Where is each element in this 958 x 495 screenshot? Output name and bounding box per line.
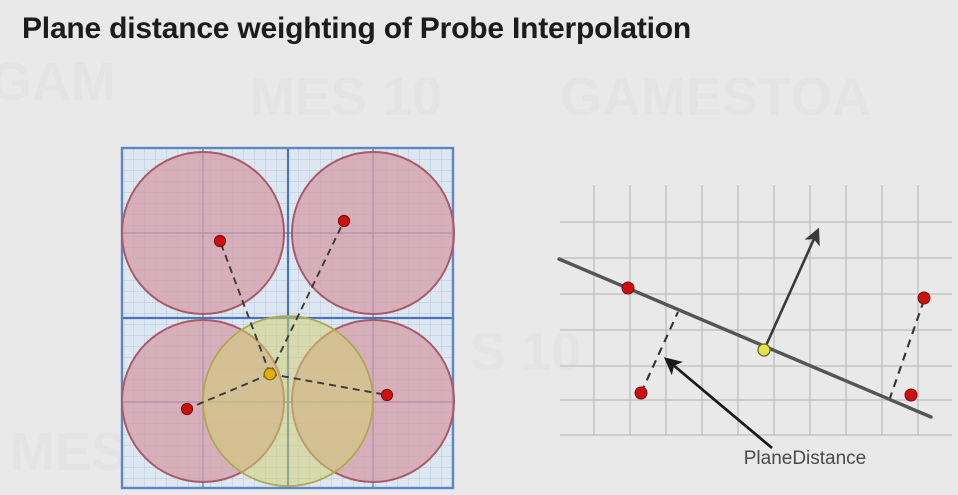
probe-circle-top-right — [292, 152, 454, 314]
probe-point-bottom-right — [381, 389, 392, 400]
plane-distance-right — [890, 300, 924, 398]
probe-point-below-plane — [635, 387, 647, 399]
plane-distance-left — [641, 312, 678, 393]
watermark-text: GAMESTOA — [560, 67, 871, 127]
probe-point-top-left — [214, 235, 225, 246]
plane-line — [559, 259, 931, 417]
plane-distance-svg: PlaneDistance — [545, 172, 958, 482]
probe-grid-figure — [110, 142, 455, 494]
blend-circle — [203, 316, 373, 486]
sample-point-on-plane — [758, 344, 770, 356]
probe-point-on-plane-left — [622, 282, 634, 294]
plane-distance-label: PlaneDistance — [744, 448, 867, 469]
probe-grid-svg — [110, 142, 455, 494]
watermark-text: GAM — [0, 52, 116, 112]
probe-point-bottom-left — [181, 403, 192, 414]
plane-grid — [560, 185, 952, 435]
watermark-text: MES 10 — [250, 67, 442, 127]
plane-probe-point-group — [622, 282, 930, 401]
sample-point — [264, 368, 276, 380]
probe-point-top-right — [338, 215, 349, 226]
page-title: Plane distance weighting of Probe Interp… — [22, 12, 691, 46]
probe-point-below-plane-right — [905, 389, 917, 401]
probe-circle-top-left — [122, 152, 284, 314]
probe-point-above-plane-right — [918, 292, 930, 304]
plane-distance-figure: PlaneDistance — [545, 172, 958, 482]
